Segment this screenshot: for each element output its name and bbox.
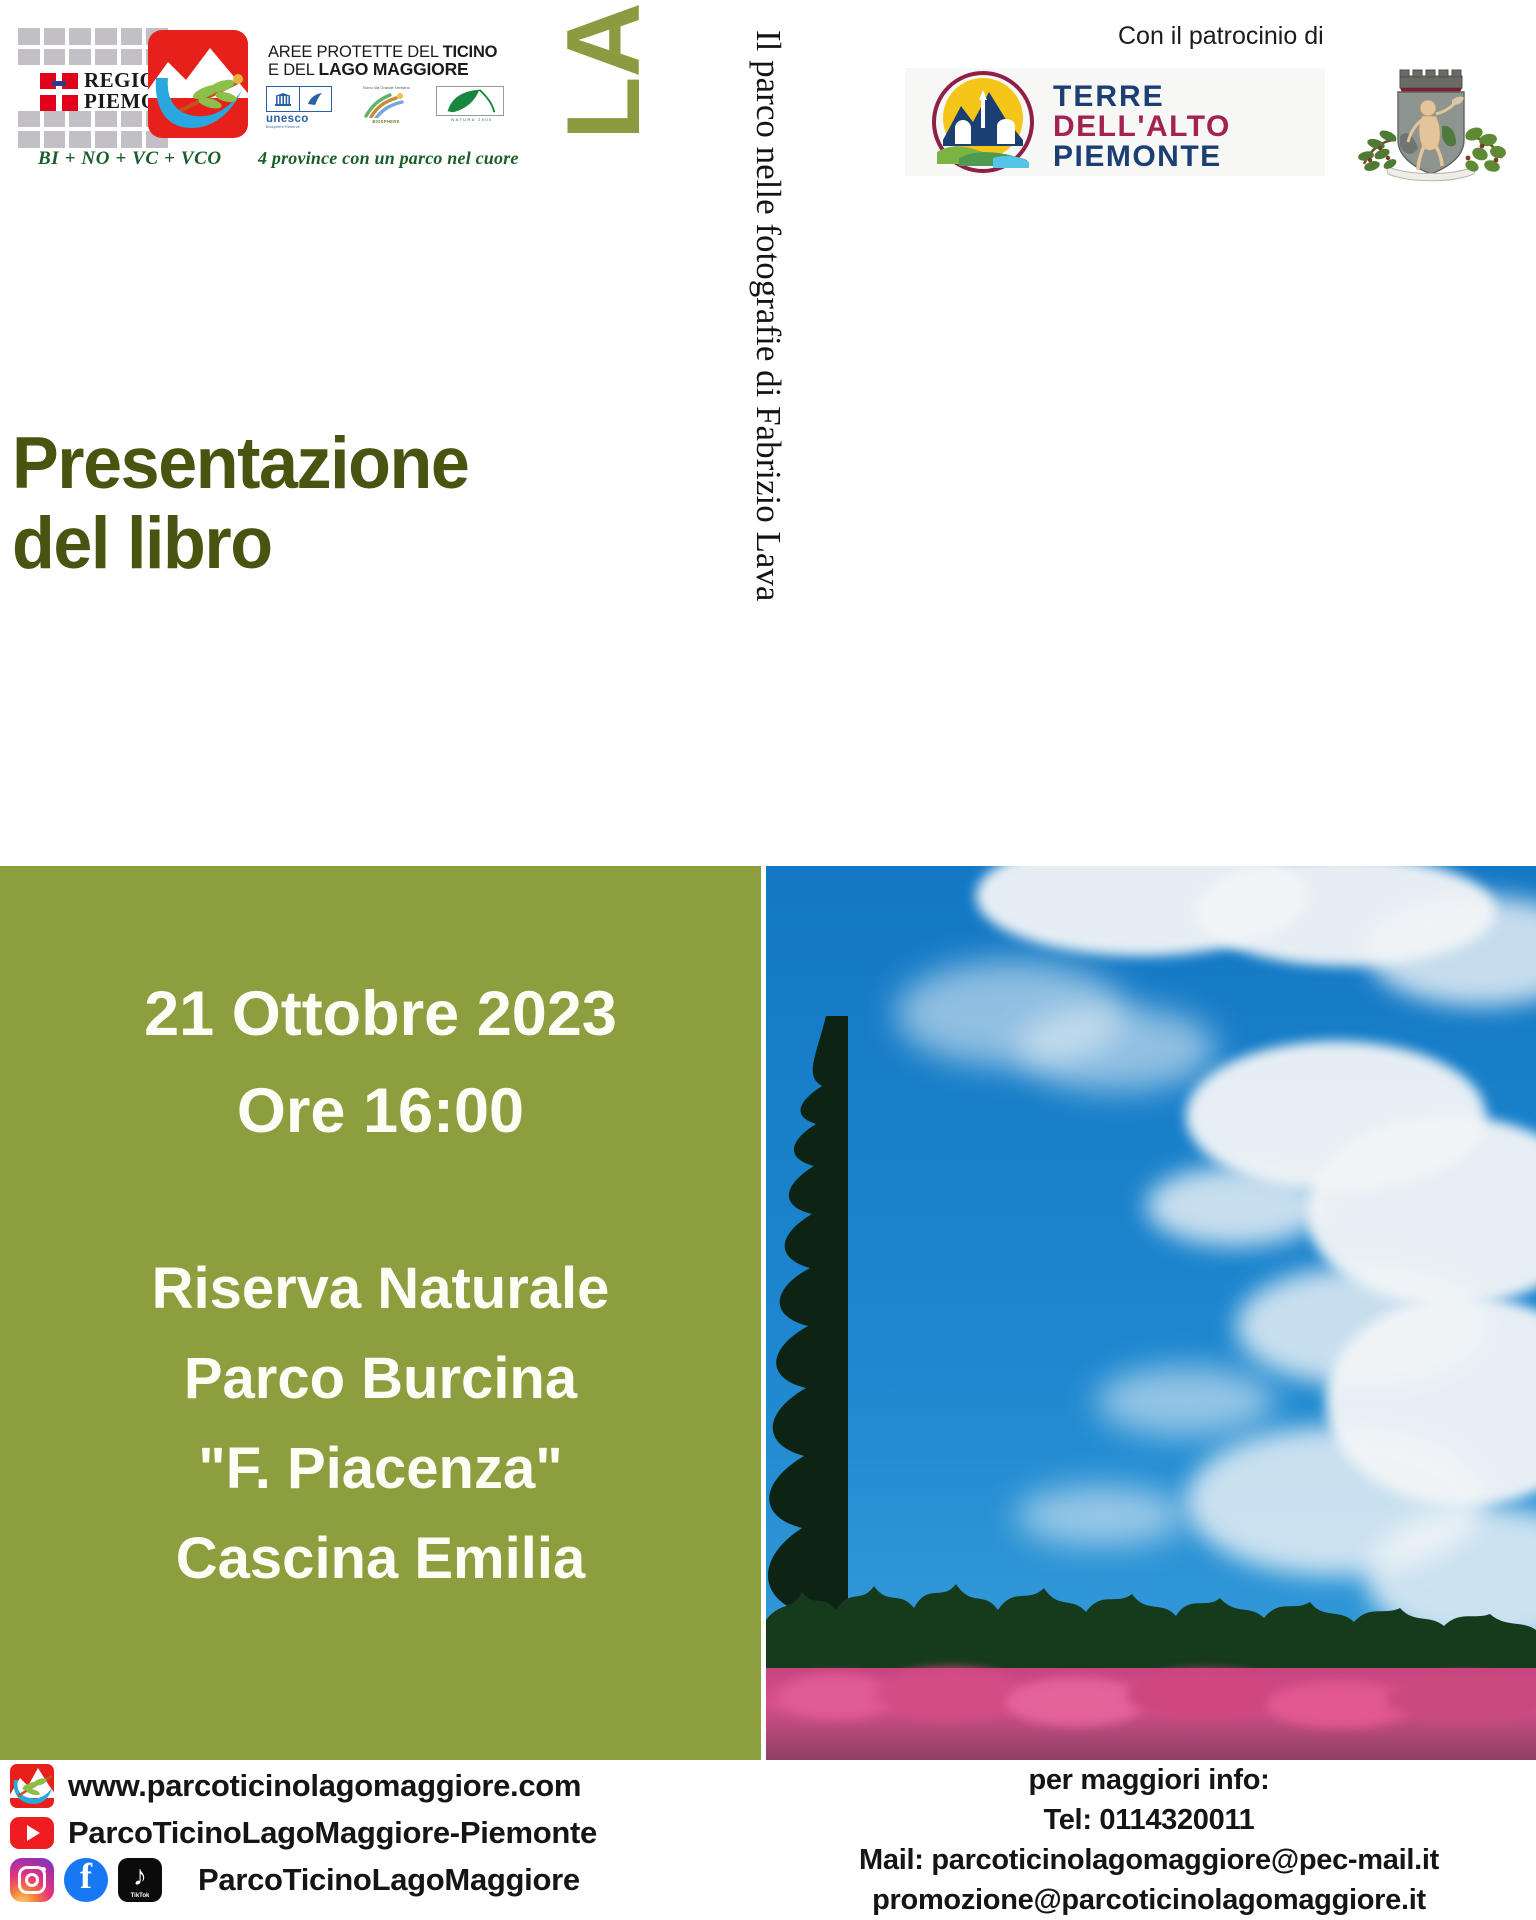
- venue-line1: Riserva Naturale: [0, 1244, 761, 1334]
- mab-graphic-icon: [360, 92, 412, 118]
- provinces-label: BI + NO + VC + VCO: [38, 148, 222, 170]
- municipal-coat-of-arms-icon: [1356, 62, 1506, 192]
- footer-links: www.parcoticinolagomaggiore.com ParcoTic…: [10, 1762, 597, 1903]
- cloud-shape: [1016, 1006, 1216, 1091]
- unesco-label: unesco: [266, 113, 332, 125]
- event-date: 21 Ottobre 2023: [0, 966, 761, 1063]
- partner-badges: unesco Biosphere Reserve Ticino Val Gran…: [266, 86, 516, 136]
- unesco-sublabel: Biosphere Reserve: [266, 125, 332, 129]
- natura2000-label: NATURA 2000: [436, 117, 508, 122]
- bloom-shape: [1126, 1670, 1286, 1720]
- event-datetime: 21 Ottobre 2023 Ore 16:00: [0, 966, 761, 1160]
- social-label[interactable]: ParcoTicinoLagoMaggiore: [198, 1862, 580, 1898]
- mab-biosphere-badge: Ticino Val Grande Verbano BIOSPHERE: [350, 86, 422, 124]
- youtube-label[interactable]: ParcoTicinoLagoMaggiore-Piemonte: [68, 1815, 597, 1851]
- venue-line4: Cascina Emilia: [0, 1514, 761, 1604]
- poster-root: REGIONE PIEMONTE AREE PROTETTE DE: [0, 0, 1536, 1920]
- unesco-bird-icon: [306, 91, 324, 107]
- presentation-line1: Presentazione: [12, 424, 468, 504]
- vertical-main-title: LA BURCINA: [548, 0, 668, 140]
- rhododendron-blooms: [766, 1668, 1536, 1760]
- aree-line2-light: E DEL: [268, 61, 318, 79]
- website-label[interactable]: www.parcoticinolagomaggiore.com: [68, 1768, 581, 1804]
- parco-ticino-logo: [148, 30, 248, 138]
- park-photo: [766, 866, 1536, 1760]
- venue-line3: "F. Piacenza": [0, 1424, 761, 1514]
- terre-alto-piemonte-emblem-icon: [919, 70, 1047, 174]
- footer-social-row[interactable]: TikTok ParcoTicinoLagoMaggiore: [10, 1856, 597, 1903]
- event-time: Ore 16:00: [0, 1063, 761, 1160]
- unesco-temple-icon: [275, 93, 291, 106]
- mail-promo-label[interactable]: promozione@parcoticinolagomaggiore.it: [764, 1880, 1534, 1920]
- mab-toplabel: Ticino Val Grande Verbano: [350, 86, 422, 91]
- bloom-shape: [876, 1668, 1026, 1720]
- presentation-heading: Presentazione del libro: [12, 424, 468, 584]
- footer-website-row[interactable]: www.parcoticinolagomaggiore.com: [10, 1762, 597, 1809]
- terre-alto-piemonte-logo: TERRE DELL'ALTO PIEMONTE: [905, 68, 1325, 176]
- instagram-icon: [10, 1858, 54, 1902]
- patronage-label: Con il patrocinio di: [1118, 22, 1324, 51]
- phone-label[interactable]: Tel: 0114320011: [764, 1800, 1534, 1840]
- piemonte-cross-icon: [40, 73, 78, 111]
- cloud-shape: [1146, 1166, 1326, 1246]
- natura2000-badge: NATURA 2000: [436, 86, 508, 122]
- website-icon: [10, 1764, 54, 1808]
- footer-contact-info: per maggiori info: Tel: 0114320011 Mail:…: [764, 1760, 1534, 1920]
- mail-pec-label[interactable]: Mail: parcoticinolagomaggiore@pec-mail.i…: [764, 1840, 1534, 1880]
- footer: www.parcoticinolagomaggiore.com ParcoTic…: [0, 1760, 1536, 1920]
- aree-line2-bold: LAGO MAGGIORE: [318, 59, 468, 79]
- treeline-silhouette: [766, 1524, 1536, 1674]
- info-label: per maggiori info:: [764, 1760, 1534, 1800]
- venue-line2: Parco Burcina: [0, 1334, 761, 1424]
- bloom-shape: [1386, 1674, 1536, 1724]
- event-info-panel: 21 Ottobre 2023 Ore 16:00 Riserva Natura…: [0, 866, 761, 1760]
- presentation-line2: del libro: [12, 504, 468, 584]
- youtube-icon: [10, 1811, 54, 1855]
- terre-word2: DELL'ALTO: [1053, 112, 1231, 142]
- terre-word1: TERRE: [1053, 82, 1231, 112]
- dragonfly-icon: [180, 70, 246, 120]
- unesco-badge: unesco Biosphere Reserve: [266, 86, 332, 129]
- vertical-subtitle: Il parco nelle fotografie di Fabrizio La…: [740, 30, 790, 860]
- event-venue: Riserva Naturale Parco Burcina "F. Piace…: [0, 1244, 761, 1604]
- regione-piemonte-logo: REGIONE PIEMONTE: [18, 28, 168, 148]
- mab-label: BIOSPHERE: [350, 119, 422, 124]
- aree-protette-wordmark: AREE PROTETTE DEL TICINO E DEL LAGO MAGG…: [268, 44, 498, 79]
- terre-word3: PIEMONTE: [1053, 142, 1231, 172]
- natura2000-icon: [437, 87, 503, 115]
- facebook-icon: [64, 1858, 108, 1902]
- terre-alto-piemonte-wordmark: TERRE DELL'ALTO PIEMONTE: [1053, 82, 1231, 172]
- footer-youtube-row[interactable]: ParcoTicinoLagoMaggiore-Piemonte: [10, 1809, 597, 1856]
- tiktok-icon: TikTok: [118, 1858, 162, 1902]
- tagline-label: 4 province con un parco nel cuore: [258, 148, 519, 169]
- cloud-shape: [1096, 1366, 1276, 1436]
- bloom-shape: [1006, 1678, 1146, 1726]
